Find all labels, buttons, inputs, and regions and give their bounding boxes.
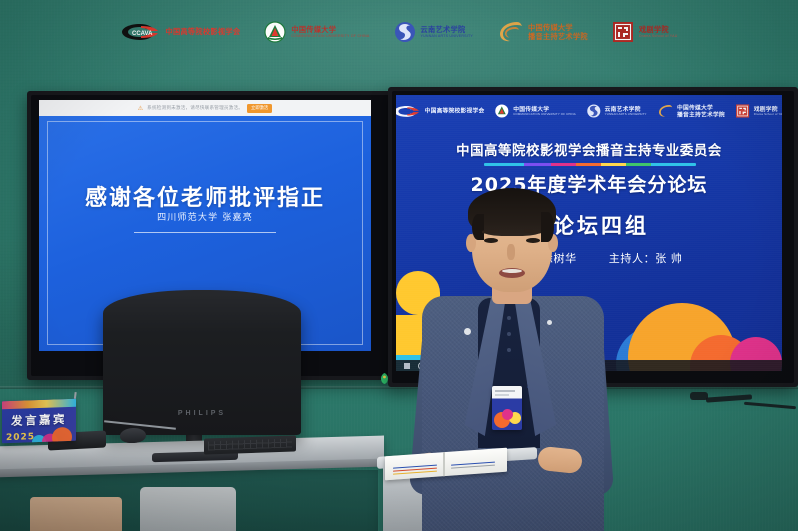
rd-logo-yau-cn: 云南艺术学院 — [605, 106, 647, 112]
slide-subtitle: 四川师范大学 张嘉亮 — [39, 210, 371, 223]
badge-text-line-2 — [495, 394, 509, 396]
badge-blob-magenta — [502, 409, 513, 420]
shirt-button-1 — [507, 316, 511, 320]
logo-yau-cn: 云南艺术学院 — [421, 26, 473, 33]
rd-logo-drama-en: Drama School of YAU — [754, 113, 782, 116]
speaker-nose — [507, 244, 515, 260]
speaker-person — [416, 186, 606, 531]
logo-ccava: CCAVA 中国高等院校影视学会 — [120, 22, 240, 42]
rd-logo-ccava-cn: 中国高等院校影视学会 — [425, 108, 485, 114]
logo-yau: 云南艺术学院 YUNNAN ARTS UNIVERSITY — [394, 21, 473, 43]
activate-now-button[interactable]: 立即激活 — [247, 104, 272, 113]
blazer-lapel-pin — [547, 320, 552, 325]
phoenix-logo-icon — [497, 20, 523, 44]
activation-notice-text: 系统检测到未激活，请尽快联系管理员激活。 — [147, 105, 243, 111]
phoenix-logo-icon — [657, 104, 673, 118]
art-blob-orange-2 — [690, 335, 752, 371]
book-spine — [443, 452, 445, 476]
logo-drama-cn: 戏剧学院 — [639, 26, 678, 33]
rd-logo-drama: 戏剧学院 Drama School of YAU — [735, 104, 782, 118]
rd-logo-cuc-en: COMMUNICATION UNIVERSITY OF CHINA — [513, 113, 576, 116]
name-card-year: 2025 — [6, 432, 35, 443]
drama-seal-logo-icon — [612, 21, 634, 43]
speaker-name-card: 发言嘉宾 2025 — [2, 399, 76, 444]
ccava-swoosh-logo-icon — [396, 104, 421, 118]
shirt-button-3 — [507, 348, 511, 352]
conference-room-photo: CCAVA 中国高等院校影视学会 中国传媒大学 COMMUNICATION UN… — [0, 0, 798, 531]
name-card-blob-orange — [52, 427, 72, 443]
rd-logo-broadcast-cn1: 中国传媒大学 — [677, 105, 725, 111]
rd-logo-ccava: 中国高等院校影视学会 — [396, 104, 485, 118]
cuc-crest-logo-icon — [495, 104, 509, 118]
rd-logo-cuc: 中国传媒大学 COMMUNICATION UNIVERSITY OF CHINA — [495, 104, 576, 118]
top-logo-strip: CCAVA 中国高等院校影视学会 中国传媒大学 COMMUNICATION UN… — [0, 8, 798, 56]
wooden-chair — [30, 497, 122, 531]
right-slide-logo-row: 中国高等院校影视学会 中国传媒大学 COMMUNICATION UNIVERSI… — [435, 103, 744, 119]
host-label: 主持人：张 帅 — [609, 252, 683, 265]
office-chair — [140, 487, 236, 531]
forum-committee-title: 中国高等院校影视学会播音主持专业委员会 — [396, 139, 782, 159]
ccava-swoosh-logo-icon: CCAVA — [120, 22, 160, 42]
logo-cuc-broadcast-cn-line2: 播音主持艺术学院 — [528, 33, 588, 40]
rd-logo-yau-en: YUNNAN ARTS UNIVERSITY — [605, 113, 647, 116]
svg-text:CCAVA: CCAVA — [132, 31, 153, 37]
logo-cuc: 中国传媒大学 COMMUNICATION UNIVERSITY OF CHINA — [264, 21, 369, 43]
logo-cuc-broadcast: 中国传媒大学 播音主持艺术学院 — [497, 20, 588, 44]
activation-notice-bar[interactable]: ⚠ 系统检测到未激活，请尽快联系管理员激活。 立即激活 — [39, 100, 371, 116]
cuc-crest-logo-icon — [264, 21, 286, 43]
logo-cuc-cn: 中国传媒大学 — [291, 26, 369, 33]
art-blob-magenta — [730, 337, 782, 371]
art-blob-orange — [628, 303, 736, 371]
slide-title: 感谢各位老师批评指正 — [39, 180, 371, 212]
logo-drama: 戏剧学院 Drama School of YAU — [612, 21, 678, 43]
warning-icon: ⚠ — [138, 105, 143, 112]
speaker-mouth — [499, 268, 525, 278]
rd-logo-cuc-cn: 中国传媒大学 — [513, 106, 576, 112]
yau-roundel-logo-icon — [586, 104, 600, 118]
monitor-brand-label: PHILIPS — [103, 410, 301, 417]
shirt-button-2 — [507, 332, 511, 336]
rd-logo-yau: 云南艺术学院 YUNNAN ARTS UNIVERSITY — [586, 104, 646, 118]
rd-logo-cuc-broadcast: 中国传媒大学 播音主持艺术学院 — [657, 104, 725, 118]
keyboard — [204, 435, 296, 454]
logo-yau-en: YUNNAN ARTS UNIVERSITY — [421, 35, 473, 39]
drama-seal-logo-icon — [735, 104, 749, 118]
logo-cuc-en: COMMUNICATION UNIVERSITY OF CHINA — [291, 35, 369, 39]
rd-logo-broadcast-cn2: 播音主持艺术学院 — [677, 111, 725, 117]
speaker-eye-right — [526, 238, 540, 243]
windows-start-icon[interactable] — [404, 363, 410, 369]
name-card-color-strip — [2, 399, 76, 410]
blazer-button-pin — [464, 328, 471, 335]
art-blob-teal — [616, 327, 690, 371]
slide-divider-rule — [134, 232, 276, 233]
color-divider-bar — [484, 163, 696, 166]
speaker-eye-left — [484, 238, 498, 243]
yau-roundel-logo-icon — [394, 21, 416, 43]
logo-ccava-cn: 中国高等院校影视学会 — [165, 28, 240, 35]
desk-monitor: PHILIPS — [103, 290, 301, 435]
rd-logo-drama-cn: 戏剧学院 — [754, 106, 782, 112]
speaker-hair — [468, 188, 556, 236]
badge-text-line-1 — [495, 390, 515, 392]
conference-badge — [492, 386, 522, 430]
logo-drama-en: Drama School of YAU — [639, 35, 678, 39]
logo-cuc-broadcast-cn-line1: 中国传媒大学 — [528, 24, 588, 31]
